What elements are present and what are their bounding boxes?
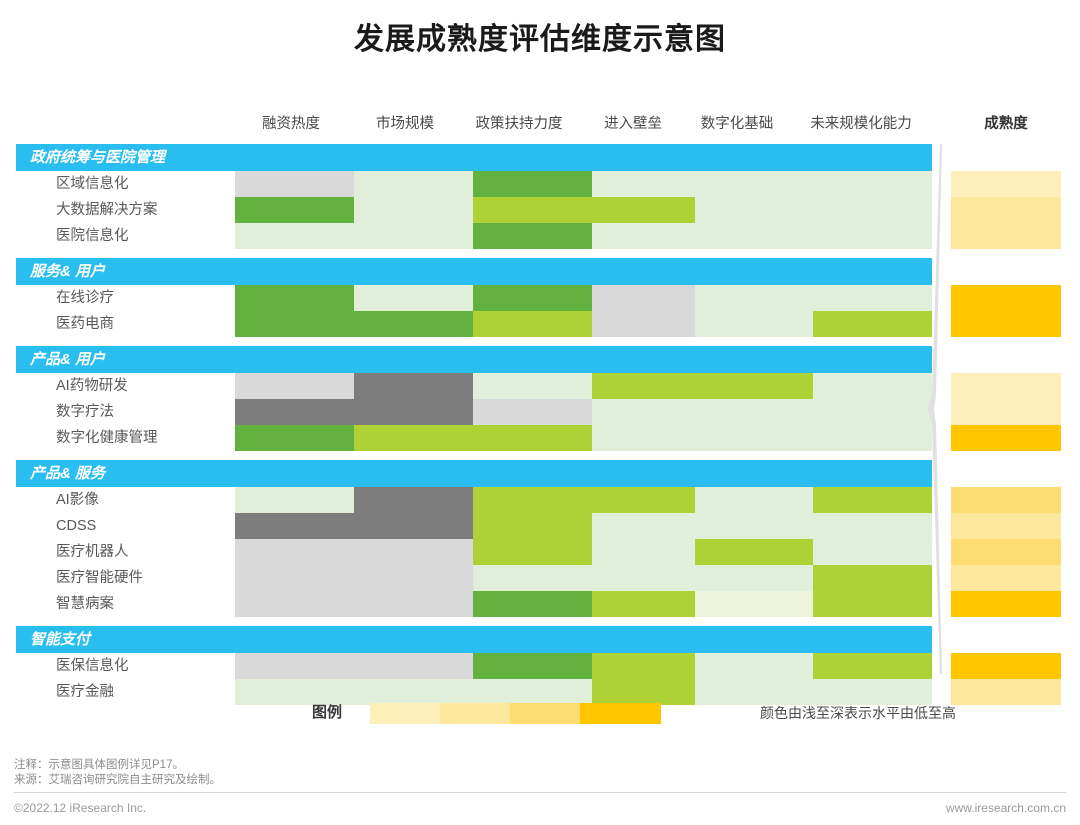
row-cells — [235, 285, 932, 311]
heatmap-cell[interactable] — [592, 513, 695, 539]
heatmap-cell[interactable] — [813, 171, 932, 197]
matrix-grid: 政府统筹与医院管理区域信息化大数据解决方案医院信息化服务& 用户在线诊疗医药电商… — [16, 144, 932, 705]
heatmap-cell[interactable] — [235, 425, 354, 451]
heatmap-cell[interactable] — [354, 653, 473, 679]
row-label: 医疗智能硬件 — [56, 565, 143, 591]
row-label: 数字化健康管理 — [56, 425, 158, 451]
row-cells — [235, 223, 932, 249]
legend-title: 图例 — [312, 700, 342, 726]
page-title: 发展成熟度评估维度示意图 — [0, 0, 1080, 62]
footnote-source: 来源：艾瑞咨询研究院自主研究及绘制。 — [14, 773, 221, 788]
heatmap-cell[interactable] — [695, 311, 813, 337]
heatmap-cell[interactable] — [813, 653, 932, 679]
row-label: 医院信息化 — [56, 223, 129, 249]
heatmap-cell[interactable] — [695, 197, 813, 223]
footnote-annotation: 注释：示意图具体图例详见P17。 — [14, 758, 221, 773]
maturity-group-5 — [951, 653, 1061, 705]
heatmap-cell[interactable] — [354, 311, 473, 337]
maturity-group-2 — [951, 285, 1061, 337]
heatmap-cell[interactable] — [592, 399, 695, 425]
section-band-label: 产品& 用户 — [30, 346, 105, 373]
section-rows-2: 在线诊疗医药电商 — [16, 285, 932, 337]
row-cells — [235, 513, 932, 539]
footer-bar: ©2022.12 iResearch Inc. www.iresearch.co… — [14, 798, 1066, 818]
table-row[interactable]: CDSS — [16, 513, 932, 539]
row-label: 大数据解决方案 — [56, 197, 158, 223]
maturity-cell[interactable] — [951, 425, 1061, 451]
maturity-cell[interactable] — [951, 487, 1061, 513]
heatmap-cell[interactable] — [473, 513, 592, 539]
section-band-label: 智能支付 — [30, 626, 90, 653]
section-band-label: 政府统筹与医院管理 — [30, 144, 165, 171]
maturity-cell[interactable] — [951, 223, 1061, 249]
heatmap-cell[interactable] — [695, 653, 813, 679]
table-row[interactable]: 医药电商 — [16, 311, 932, 337]
heatmap-cell[interactable] — [695, 171, 813, 197]
heatmap-cell[interactable] — [354, 487, 473, 513]
section-band-3: 产品& 用户 — [16, 346, 932, 373]
heatmap-cell[interactable] — [235, 591, 354, 617]
footnotes: 注释：示意图具体图例详见P17。 来源：艾瑞咨询研究院自主研究及绘制。 — [14, 758, 221, 788]
table-row[interactable]: 医疗智能硬件 — [16, 565, 932, 591]
heatmap-cell[interactable] — [813, 539, 932, 565]
heatmap-cell[interactable] — [354, 425, 473, 451]
heatmap-cell[interactable] — [473, 171, 592, 197]
maturity-cell[interactable] — [951, 311, 1061, 337]
row-label: 医药电商 — [56, 311, 114, 337]
table-row[interactable]: AI影像 — [16, 487, 932, 513]
maturity-cell[interactable] — [951, 513, 1061, 539]
maturity-group-3 — [951, 373, 1061, 451]
heatmap-cell[interactable] — [354, 565, 473, 591]
maturity-group-4 — [951, 487, 1061, 617]
table-row[interactable]: 医院信息化 — [16, 223, 932, 249]
maturity-matrix-chart: 融资热度市场规模政策扶持力度进入壁垒数字化基础未来规模化能力成熟度 政府统筹与医… — [0, 110, 1080, 710]
heatmap-cell[interactable] — [473, 653, 592, 679]
heatmap-cell[interactable] — [473, 311, 592, 337]
maturity-cell[interactable] — [951, 285, 1061, 311]
heatmap-cell[interactable] — [354, 197, 473, 223]
row-label: 医保信息化 — [56, 653, 129, 679]
heatmap-cell[interactable] — [695, 591, 813, 617]
heatmap-cell[interactable] — [695, 487, 813, 513]
heatmap-cell[interactable] — [592, 487, 695, 513]
heatmap-cell[interactable] — [235, 565, 354, 591]
heatmap-cell[interactable] — [473, 223, 592, 249]
heatmap-cell[interactable] — [695, 513, 813, 539]
row-cells — [235, 311, 932, 337]
section-rows-1: 区域信息化大数据解决方案医院信息化 — [16, 171, 932, 249]
heatmap-cell[interactable] — [354, 591, 473, 617]
heatmap-cell[interactable] — [695, 285, 813, 311]
section-spacer — [16, 249, 932, 258]
heatmap-cell[interactable] — [813, 487, 932, 513]
row-label: 医疗机器人 — [56, 539, 129, 565]
heatmap-cell[interactable] — [813, 197, 932, 223]
section-rows-3: AI药物研发数字疗法数字化健康管理 — [16, 373, 932, 451]
heatmap-cell[interactable] — [235, 223, 354, 249]
row-cells — [235, 539, 932, 565]
legend-swatch-1 — [370, 703, 451, 724]
heatmap-cell[interactable] — [473, 539, 592, 565]
table-row[interactable]: 数字化健康管理 — [16, 425, 932, 451]
heatmap-cell[interactable] — [235, 373, 354, 399]
row-label: AI影像 — [56, 487, 99, 513]
row-cells — [235, 565, 932, 591]
row-label: 数字疗法 — [56, 399, 114, 425]
heatmap-cell[interactable] — [813, 311, 932, 337]
heatmap-cell[interactable] — [592, 171, 695, 197]
row-label: 在线诊疗 — [56, 285, 114, 311]
heatmap-cell[interactable] — [473, 487, 592, 513]
maturity-cell[interactable] — [951, 565, 1061, 591]
heatmap-cell[interactable] — [473, 285, 592, 311]
table-row[interactable]: 区域信息化 — [16, 171, 932, 197]
heatmap-cell[interactable] — [813, 285, 932, 311]
maturity-cell[interactable] — [951, 197, 1061, 223]
maturity-cell[interactable] — [951, 653, 1061, 679]
heatmap-cell[interactable] — [813, 223, 932, 249]
heatmap-cell[interactable] — [592, 565, 695, 591]
maturity-cell[interactable] — [951, 539, 1061, 565]
legend-note: 颜色由浅至深表示水平由低至高 — [760, 700, 956, 726]
table-row[interactable]: 智慧病案 — [16, 591, 932, 617]
heatmap-cell[interactable] — [592, 653, 695, 679]
row-cells — [235, 197, 932, 223]
section-band-5: 智能支付 — [16, 626, 932, 653]
heatmap-cell[interactable] — [813, 373, 932, 399]
heatmap-cell[interactable] — [354, 373, 473, 399]
grouping-brace-icon — [926, 144, 944, 674]
copyright-text: ©2022.12 iResearch Inc. — [14, 798, 146, 818]
maturity-group-1 — [951, 171, 1061, 249]
heatmap-cell[interactable] — [473, 565, 592, 591]
maturity-cell[interactable] — [951, 399, 1061, 425]
table-row[interactable]: AI药物研发 — [16, 373, 932, 399]
row-label: 智慧病案 — [56, 591, 114, 617]
website-link[interactable]: www.iresearch.com.cn — [946, 798, 1066, 818]
heatmap-cell[interactable] — [235, 399, 354, 425]
heatmap-cell[interactable] — [592, 223, 695, 249]
table-row[interactable]: 数字疗法 — [16, 399, 932, 425]
legend: 图例 颜色由浅至深表示水平由低至高 — [0, 700, 1080, 734]
legend-swatch-4 — [580, 703, 661, 724]
row-label: CDSS — [56, 513, 96, 539]
section-spacer — [16, 617, 932, 626]
section-band-1: 政府统筹与医院管理 — [16, 144, 932, 171]
row-cells — [235, 171, 932, 197]
heatmap-cell[interactable] — [473, 425, 592, 451]
heatmap-cell[interactable] — [813, 565, 932, 591]
heatmap-cell[interactable] — [592, 539, 695, 565]
heatmap-cell[interactable] — [813, 513, 932, 539]
section-band-label: 产品& 服务 — [30, 460, 105, 487]
section-band-4: 产品& 服务 — [16, 460, 932, 487]
row-label: 医疗金融 — [56, 679, 114, 705]
heatmap-cell[interactable] — [354, 513, 473, 539]
heatmap-cell[interactable] — [354, 399, 473, 425]
heatmap-cell[interactable] — [473, 591, 592, 617]
section-rows-4: AI影像CDSS医疗机器人医疗智能硬件智慧病案 — [16, 487, 932, 617]
heatmap-cell[interactable] — [235, 513, 354, 539]
heatmap-cell[interactable] — [695, 373, 813, 399]
heatmap-cell[interactable] — [354, 171, 473, 197]
heatmap-cell[interactable] — [354, 539, 473, 565]
heatmap-cell[interactable] — [592, 425, 695, 451]
heatmap-cell[interactable] — [354, 223, 473, 249]
heatmap-cell[interactable] — [695, 539, 813, 565]
heatmap-cell[interactable] — [813, 399, 932, 425]
heatmap-cell[interactable] — [695, 223, 813, 249]
heatmap-cell[interactable] — [592, 373, 695, 399]
maturity-cell[interactable] — [951, 591, 1061, 617]
row-label: 区域信息化 — [56, 171, 129, 197]
heatmap-cell[interactable] — [473, 399, 592, 425]
table-row[interactable]: 医保信息化 — [16, 653, 932, 679]
legend-swatch-2 — [440, 703, 521, 724]
heatmap-cell[interactable] — [592, 197, 695, 223]
heatmap-cell[interactable] — [473, 373, 592, 399]
heatmap-cell[interactable] — [235, 197, 354, 223]
row-cells — [235, 591, 932, 617]
heatmap-cell[interactable] — [235, 539, 354, 565]
heatmap-cell[interactable] — [813, 425, 932, 451]
table-row[interactable]: 在线诊疗 — [16, 285, 932, 311]
section-band-label: 服务& 用户 — [30, 258, 105, 285]
heatmap-cell[interactable] — [695, 425, 813, 451]
column-header-6: 未来规模化能力 — [781, 110, 941, 138]
heatmap-cell[interactable] — [235, 311, 354, 337]
heatmap-cell[interactable] — [592, 311, 695, 337]
heatmap-cell[interactable] — [235, 285, 354, 311]
maturity-cell[interactable] — [951, 171, 1061, 197]
row-cells — [235, 653, 932, 679]
column-header-maturity: 成熟度 — [951, 110, 1061, 138]
row-label: AI药物研发 — [56, 373, 128, 399]
heatmap-cell[interactable] — [695, 399, 813, 425]
heatmap-cell[interactable] — [354, 285, 473, 311]
row-cells — [235, 373, 932, 399]
row-cells — [235, 399, 932, 425]
heatmap-cell[interactable] — [592, 591, 695, 617]
footer-divider — [14, 792, 1066, 793]
section-rows-5: 医保信息化医疗金融 — [16, 653, 932, 705]
row-cells — [235, 425, 932, 451]
row-cells — [235, 487, 932, 513]
section-spacer — [16, 337, 932, 346]
heatmap-cell[interactable] — [235, 171, 354, 197]
heatmap-cell[interactable] — [235, 487, 354, 513]
heatmap-cell[interactable] — [235, 653, 354, 679]
section-band-2: 服务& 用户 — [16, 258, 932, 285]
heatmap-cell[interactable] — [695, 565, 813, 591]
maturity-cell[interactable] — [951, 373, 1061, 399]
section-spacer — [16, 451, 932, 460]
legend-swatch-3 — [510, 703, 591, 724]
table-row[interactable]: 大数据解决方案 — [16, 197, 932, 223]
heatmap-cell[interactable] — [473, 197, 592, 223]
column-headers: 融资热度市场规模政策扶持力度进入壁垒数字化基础未来规模化能力成熟度 — [0, 110, 1080, 138]
heatmap-cell[interactable] — [813, 591, 932, 617]
table-row[interactable]: 医疗机器人 — [16, 539, 932, 565]
heatmap-cell[interactable] — [592, 285, 695, 311]
